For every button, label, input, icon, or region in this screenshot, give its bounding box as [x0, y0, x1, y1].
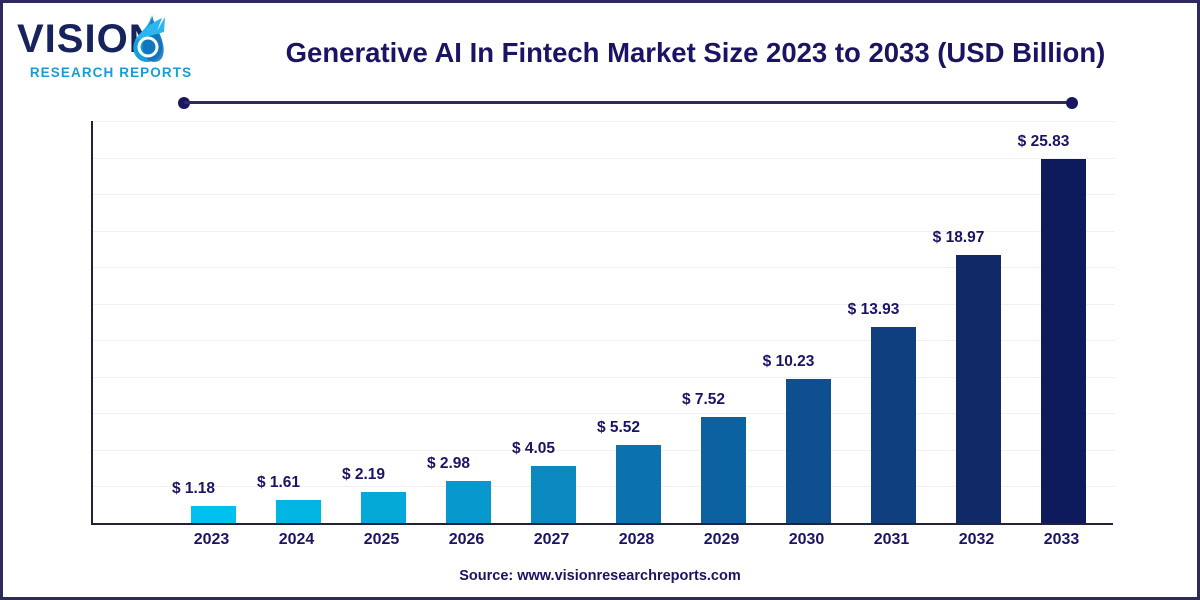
bar-group: $ 25.83 — [1021, 121, 1106, 523]
bar[interactable] — [616, 445, 661, 523]
brand-logo: VISION RESEARCH REPORTS — [17, 15, 203, 87]
divider-line — [184, 101, 1072, 104]
bar-value-label: $ 2.19 — [323, 466, 404, 484]
bar-group: $ 1.18 — [171, 121, 256, 523]
bar-value-label: $ 7.52 — [663, 391, 744, 409]
x-tick-2030: 2030 — [764, 531, 849, 549]
bar[interactable] — [786, 379, 831, 523]
x-tick-2026: 2026 — [424, 531, 509, 549]
bar-value-label: $ 2.98 — [408, 455, 489, 473]
bar-group: $ 1.61 — [256, 121, 341, 523]
bar-series: $ 1.18$ 1.61$ 2.19$ 2.98$ 4.05$ 5.52$ 7.… — [93, 121, 1115, 523]
x-tick-2033: 2033 — [1019, 531, 1104, 549]
bar-value-label: $ 18.97 — [918, 229, 999, 247]
bar-value-label: $ 13.93 — [833, 301, 914, 319]
divider-dot-right — [1066, 97, 1078, 109]
water-drop-arrow-icon — [121, 13, 167, 65]
page-title: Generative AI In Fintech Market Size 202… — [218, 33, 1173, 73]
bar[interactable] — [871, 327, 916, 523]
bar[interactable] — [191, 506, 236, 523]
bar-group: $ 4.05 — [511, 121, 596, 523]
bar-group: $ 13.93 — [851, 121, 936, 523]
x-tick-2023: 2023 — [169, 531, 254, 549]
chart-frame: VISION RESEARCH REPORTS Generative AI In… — [0, 0, 1200, 600]
bar-group: $ 7.52 — [681, 121, 766, 523]
bar-value-label: $ 10.23 — [748, 353, 829, 371]
logo-wordmark: VISION — [17, 15, 203, 63]
x-tick-2025: 2025 — [339, 531, 424, 549]
bar-group: $ 5.52 — [596, 121, 681, 523]
bar-value-label: $ 25.83 — [1003, 133, 1084, 151]
bar[interactable] — [956, 255, 1001, 523]
x-tick-2027: 2027 — [509, 531, 594, 549]
chart-header: VISION RESEARCH REPORTS Generative AI In… — [3, 3, 1197, 95]
bar[interactable] — [446, 481, 491, 523]
x-tick-2028: 2028 — [594, 531, 679, 549]
bar-value-label: $ 5.52 — [578, 419, 659, 437]
logo-subtitle: RESEARCH REPORTS — [19, 65, 203, 80]
bar[interactable] — [1041, 159, 1086, 523]
plot-area: $ 1.18$ 1.61$ 2.19$ 2.98$ 4.05$ 5.52$ 7.… — [91, 121, 1113, 525]
bar[interactable] — [531, 466, 576, 523]
x-axis-tick-labels: 2023202420252026202720282029203020312032… — [91, 531, 1113, 557]
x-tick-2032: 2032 — [934, 531, 1019, 549]
x-tick-2024: 2024 — [254, 531, 339, 549]
x-tick-2029: 2029 — [679, 531, 764, 549]
bar-group: $ 18.97 — [936, 121, 1021, 523]
bar-group: $ 2.98 — [426, 121, 511, 523]
bar-group: $ 10.23 — [766, 121, 851, 523]
bar[interactable] — [276, 500, 321, 523]
bar[interactable] — [361, 492, 406, 523]
title-divider — [178, 97, 1078, 109]
x-tick-2031: 2031 — [849, 531, 934, 549]
bar-value-label: $ 1.18 — [153, 480, 234, 498]
source-credit: Source: www.visionresearchreports.com — [3, 568, 1197, 584]
bar-value-label: $ 1.61 — [238, 474, 319, 492]
bar-value-label: $ 4.05 — [493, 440, 574, 458]
bar[interactable] — [701, 417, 746, 523]
